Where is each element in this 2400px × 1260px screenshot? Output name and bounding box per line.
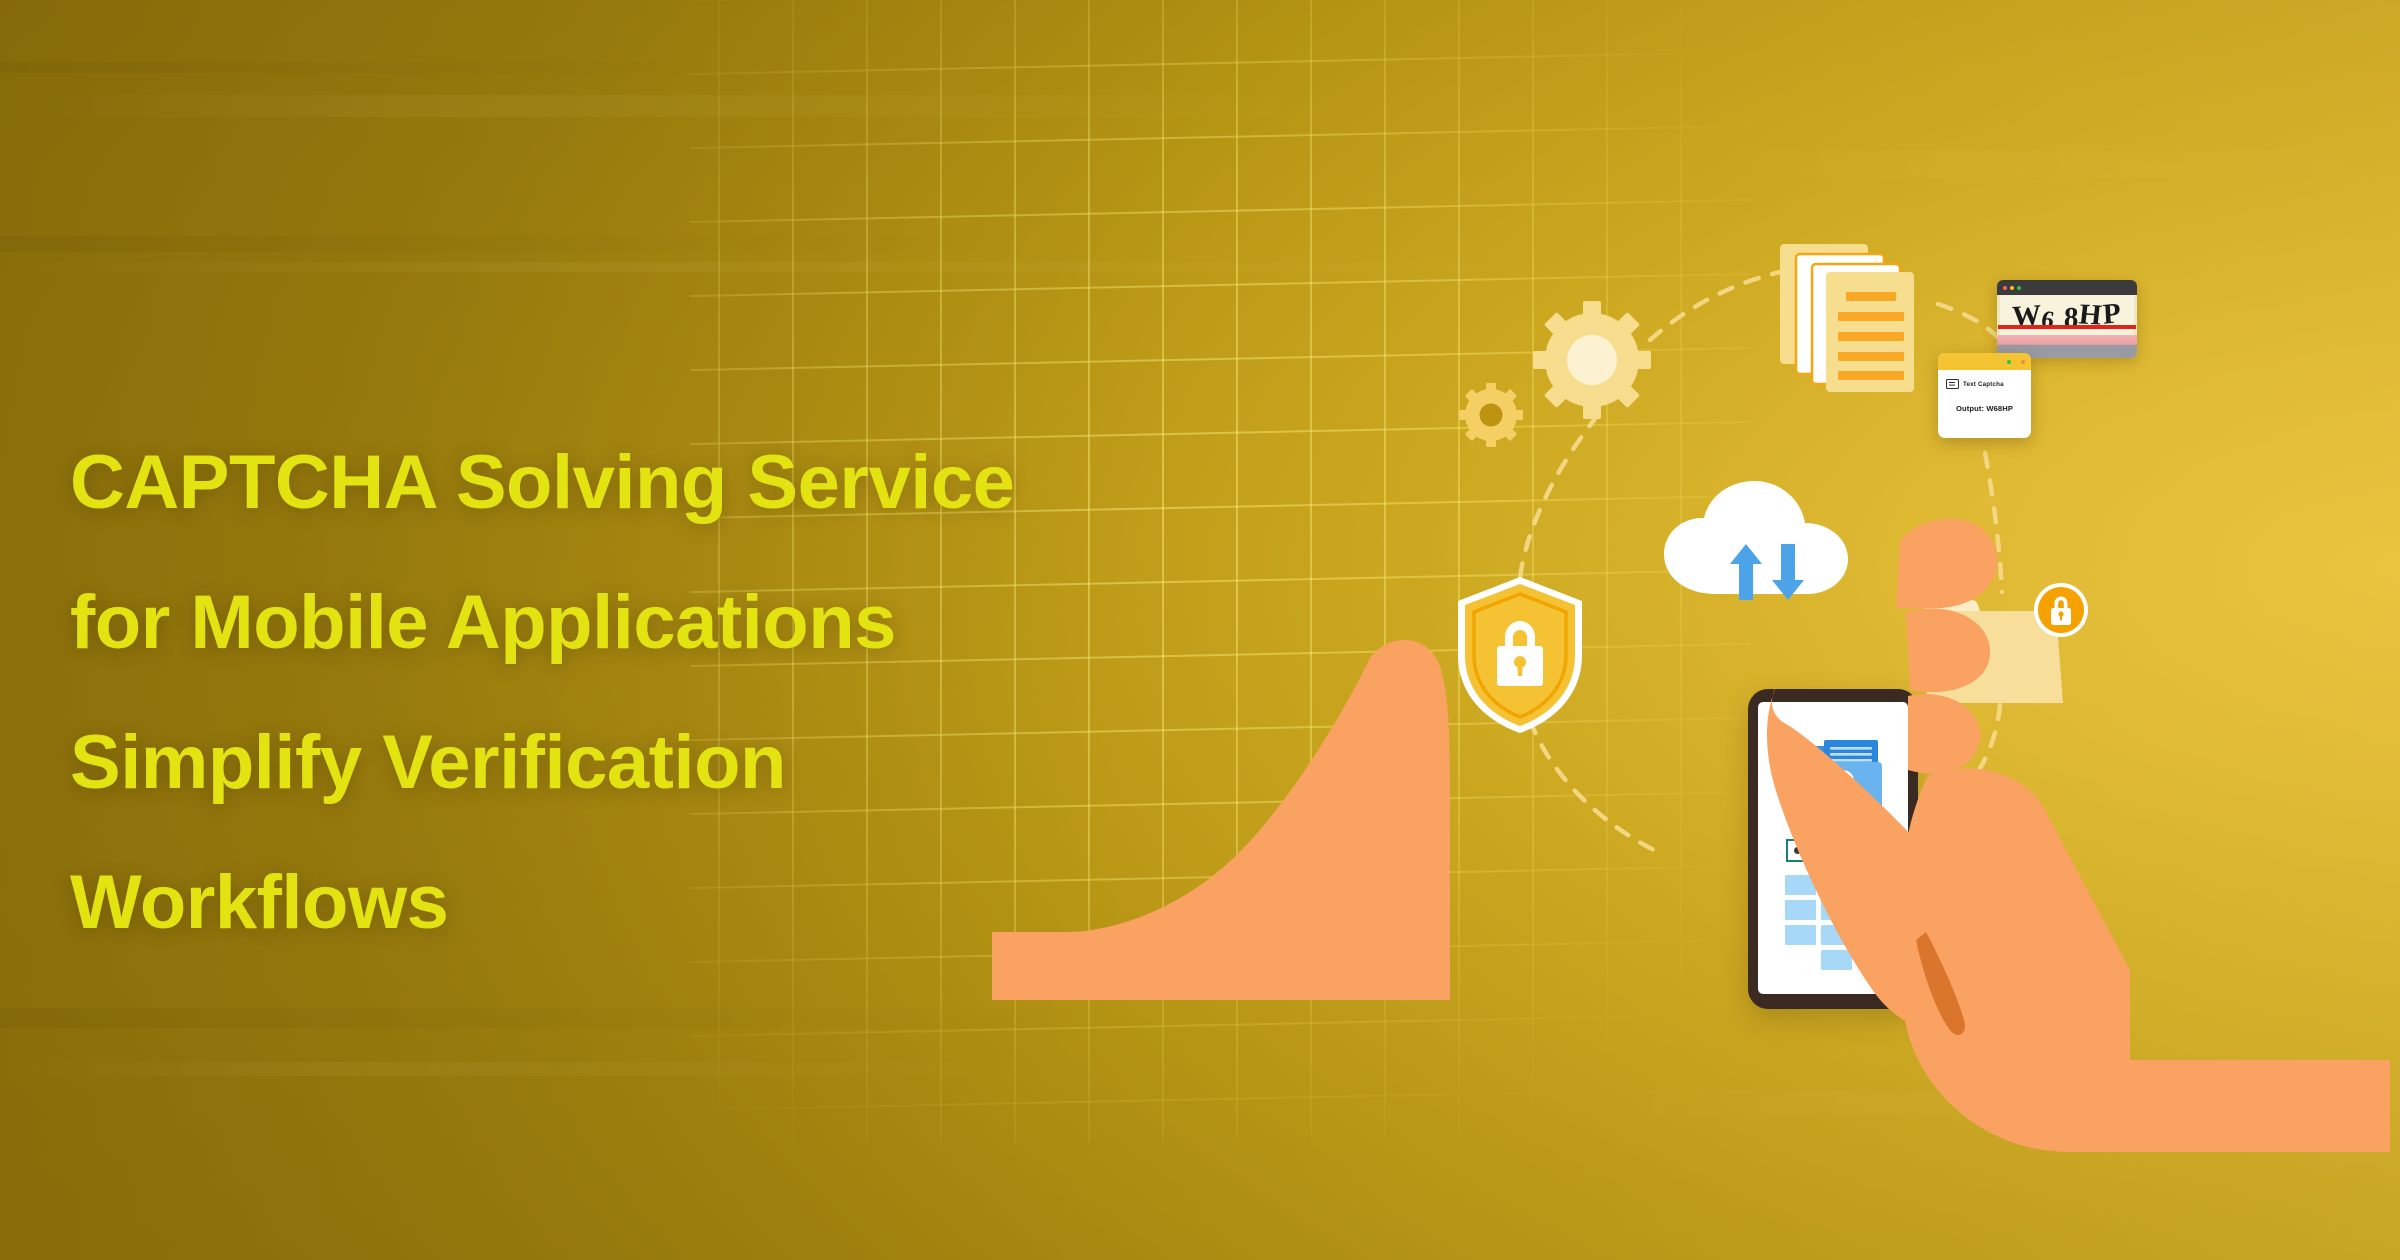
close-icon[interactable]: [2021, 360, 2025, 364]
captcha-strikethrough-line: [1998, 325, 2136, 329]
gear-large-icon: [1532, 300, 1652, 420]
gear-small-icon: [1458, 382, 1524, 448]
maximize-icon[interactable]: [2007, 360, 2011, 364]
close-icon[interactable]: [2003, 286, 2007, 290]
output-result-text: Output: W68HP: [1938, 404, 2031, 413]
minimize-icon[interactable]: [2010, 286, 2014, 290]
banner-canvas: CAPTCHA Solving Service for Mobile Appli…: [0, 0, 2400, 1260]
text-captcha-icon: [1946, 379, 1959, 389]
right-hand-pointing: [1430, 500, 2400, 1160]
captcha-output-window[interactable]: Text Captcha Output: W68HP: [1938, 353, 2031, 438]
hero-illustration: W6 8HP Text Captcha Output: W68HP: [1340, 200, 2400, 1160]
captcha-browser-window[interactable]: W6 8HP: [1997, 280, 2137, 358]
maximize-icon[interactable]: [2017, 286, 2021, 290]
output-panel-header: Text Captcha: [1938, 370, 2031, 389]
minimize-icon[interactable]: [2014, 360, 2018, 364]
output-window-titlebar: [1938, 353, 2031, 370]
captcha-image: W6 8HP: [1997, 295, 2137, 335]
captcha-window-titlebar: [1997, 280, 2137, 295]
documents-stack-icon: [1778, 242, 1916, 392]
output-panel-label: Text Captcha: [1963, 381, 2004, 388]
